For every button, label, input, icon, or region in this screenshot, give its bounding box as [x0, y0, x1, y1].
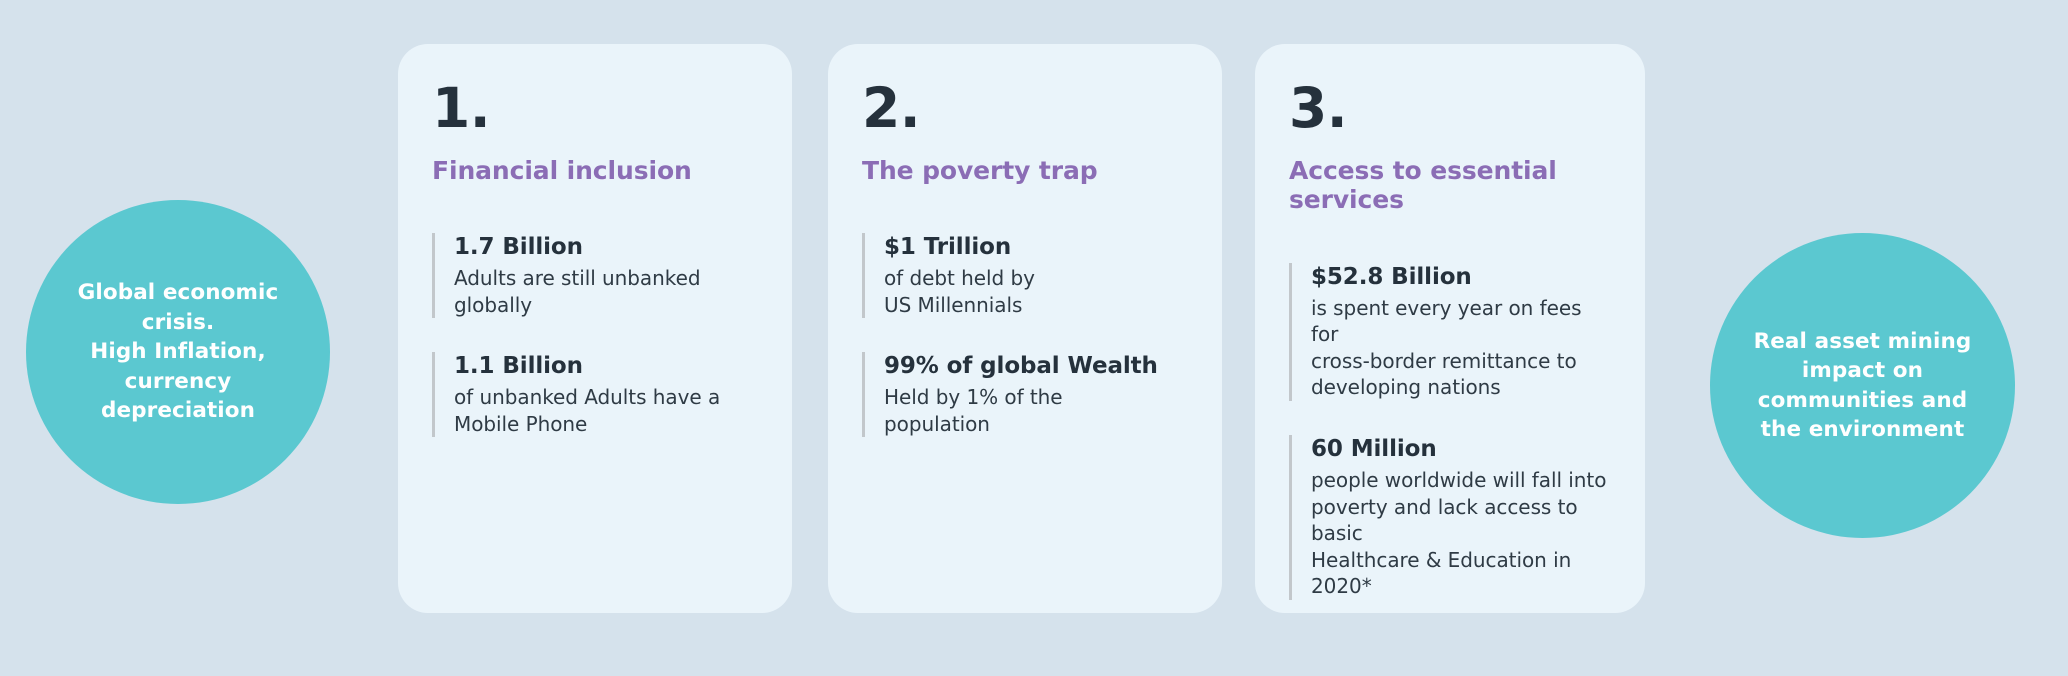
- left-context-circle: Global economic crisis. High Inflation, …: [26, 200, 330, 504]
- problem-card-2: 2. The poverty trap $1 Trillion of debt …: [828, 44, 1222, 613]
- stat-value: 1.7 Billion: [454, 233, 758, 263]
- right-context-circle: Real asset mining impact on communities …: [1710, 233, 2015, 538]
- card-1-title: Financial inclusion: [432, 156, 758, 186]
- stat-description: Held by 1% of the population: [884, 384, 1188, 437]
- problem-card-3: 3. Access to essential services $52.8 Bi…: [1255, 44, 1645, 613]
- stat-value: 1.1 Billion: [454, 352, 758, 382]
- card-1-stat-list: 1.7 Billion Adults are still unbanked gl…: [432, 233, 758, 437]
- stat-item: 1.7 Billion Adults are still unbanked gl…: [432, 233, 758, 318]
- card-3-number: 3.: [1289, 80, 1611, 138]
- card-2-number: 2.: [862, 80, 1188, 138]
- problem-card-1: 1. Financial inclusion 1.7 Billion Adult…: [398, 44, 792, 613]
- stat-description: of debt held by US Millennials: [884, 265, 1188, 318]
- stat-item: 1.1 Billion of unbanked Adults have a Mo…: [432, 352, 758, 437]
- stat-item: $1 Trillion of debt held by US Millennia…: [862, 233, 1188, 318]
- stat-description: people worldwide will fall into poverty …: [1311, 467, 1611, 600]
- card-1-number: 1.: [432, 80, 758, 138]
- stat-description: Adults are still unbanked globally: [454, 265, 758, 318]
- card-3-stat-list: $52.8 Billion is spent every year on fee…: [1289, 263, 1611, 600]
- card-2-title: The poverty trap: [862, 156, 1188, 186]
- stat-value: $52.8 Billion: [1311, 263, 1611, 293]
- stat-item: 99% of global Wealth Held by 1% of the p…: [862, 352, 1188, 437]
- stat-description: of unbanked Adults have a Mobile Phone: [454, 384, 758, 437]
- stat-value: 60 Million: [1311, 435, 1611, 465]
- left-context-text: Global economic crisis. High Inflation, …: [26, 278, 330, 425]
- stat-description: is spent every year on fees for cross-bo…: [1311, 295, 1611, 401]
- infographic-canvas: Global economic crisis. High Inflation, …: [0, 0, 2068, 676]
- right-context-text: Real asset mining impact on communities …: [1710, 327, 2015, 445]
- stat-item: 60 Million people worldwide will fall in…: [1289, 435, 1611, 600]
- stat-value: 99% of global Wealth: [884, 352, 1188, 382]
- card-2-stat-list: $1 Trillion of debt held by US Millennia…: [862, 233, 1188, 437]
- stat-value: $1 Trillion: [884, 233, 1188, 263]
- card-3-title: Access to essential services: [1289, 156, 1611, 215]
- stat-item: $52.8 Billion is spent every year on fee…: [1289, 263, 1611, 401]
